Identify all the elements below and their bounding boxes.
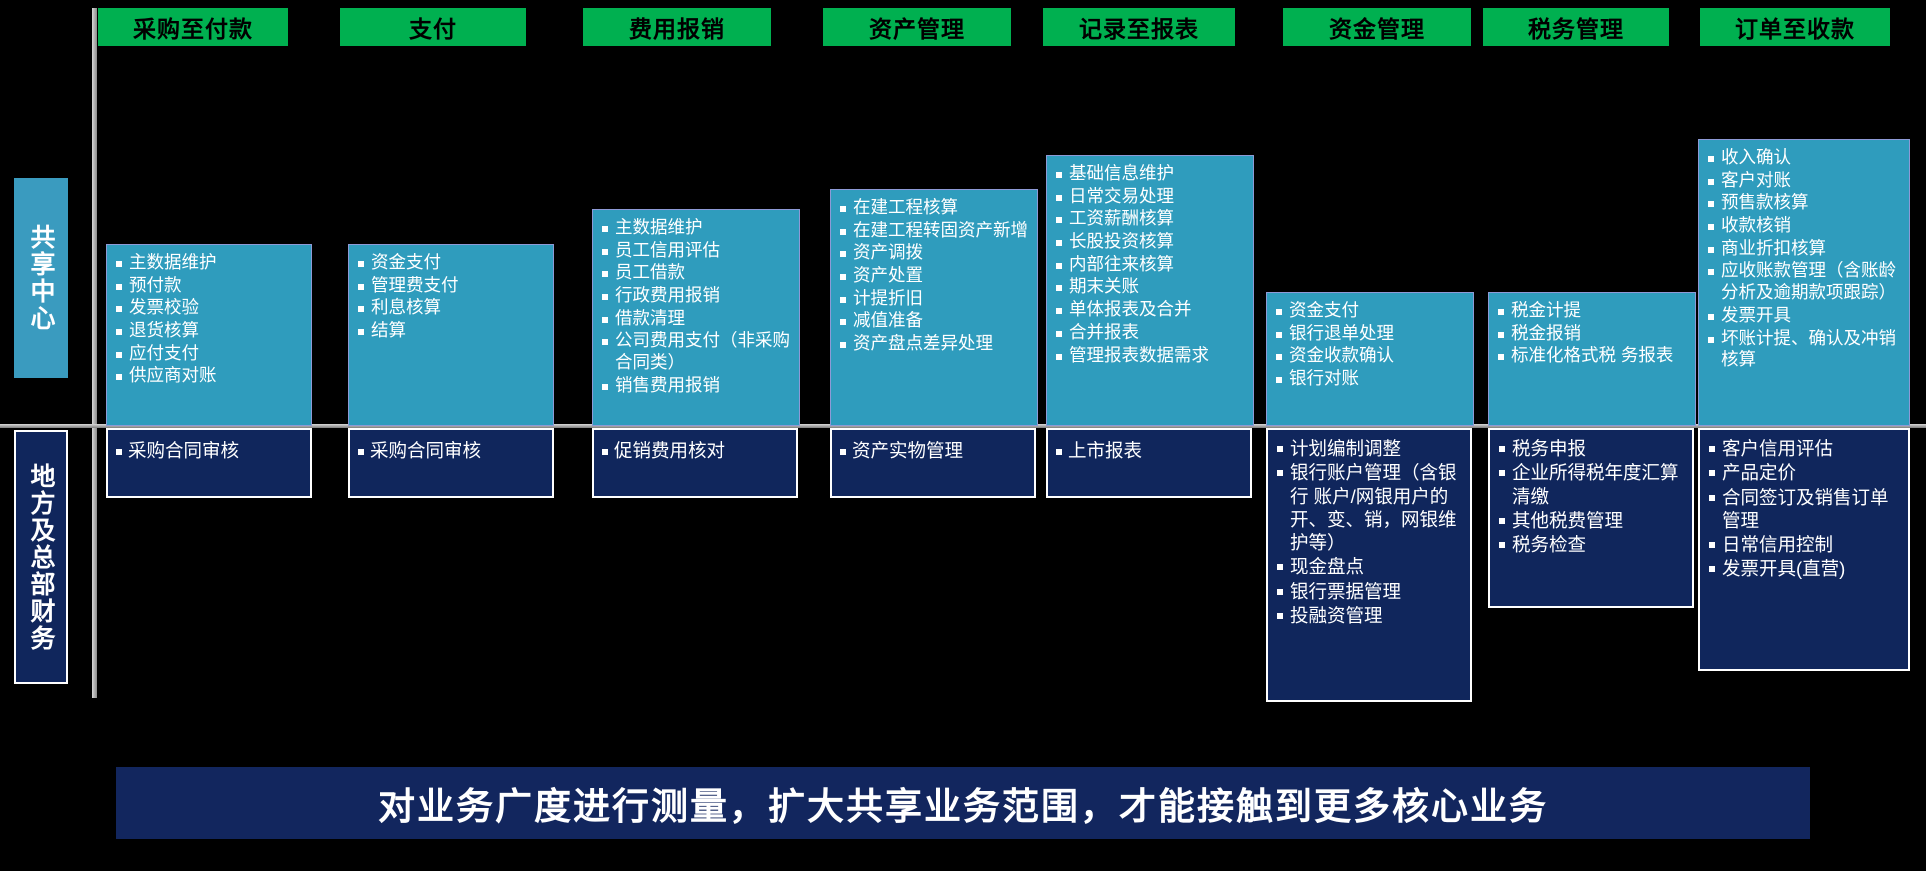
shared-box-order-to-cash[interactable]: 收入确认 客户对账 预售款核算 收款核销 商业折扣核算 应收账款管理（含账龄分析…	[1698, 139, 1910, 426]
list-item: 期末关账	[1055, 276, 1248, 298]
list-item: 银行票据管理	[1276, 580, 1465, 603]
local-list-tax-management: 税务申报 企业所得税年度汇算清缴 其他税费管理 税务检查	[1490, 430, 1692, 561]
list-item: 资产实物管理	[840, 439, 1029, 462]
local-list-payment: 采购合同审核	[350, 430, 552, 467]
shared-list-asset-management: 在建工程核算 在建工程转固资产新增 资产调拨 资产处置 计提折旧 减值准备 资产…	[831, 190, 1037, 360]
list-item: 投融资管理	[1276, 604, 1465, 627]
list-item: 结算	[357, 320, 548, 342]
list-item: 应付支付	[115, 343, 306, 365]
shared-box-tax-management[interactable]: 税金计提 税金报销 标准化格式税 务报表	[1488, 292, 1696, 426]
list-item: 标准化格式税 务报表	[1497, 345, 1690, 367]
local-box-asset-management[interactable]: 资产实物管理	[830, 428, 1036, 498]
list-item: 资产盘点差异处理	[839, 333, 1032, 355]
list-item: 客户对账	[1707, 170, 1904, 192]
list-item: 销售费用报销	[601, 375, 794, 397]
list-item: 供应商对账	[115, 365, 306, 387]
list-item: 企业所得税年度汇算清缴	[1498, 461, 1687, 508]
list-item: 计划编制调整	[1276, 437, 1465, 460]
shared-box-payment[interactable]: 资金支付 管理费支付 利息核算 结算	[348, 244, 554, 426]
list-item: 日常交易处理	[1055, 186, 1248, 208]
list-item: 员工借款	[601, 262, 794, 284]
list-item: 税务检查	[1498, 533, 1687, 556]
shared-list-treasury-management: 资金支付 银行退单处理 资金收款确认 银行对账	[1267, 293, 1473, 395]
list-item: 单体报表及合并	[1055, 299, 1248, 321]
list-item: 合并报表	[1055, 322, 1248, 344]
list-item: 管理报表数据需求	[1055, 345, 1248, 367]
list-item: 借款清理	[601, 308, 794, 330]
header-chip-record-to-report[interactable]: 记录至报表	[1043, 8, 1235, 46]
list-item: 收款核销	[1707, 215, 1904, 237]
local-list-procure-to-pay: 采购合同审核	[108, 430, 310, 467]
list-item: 长股投资核算	[1055, 231, 1248, 253]
local-list-record-to-report: 上市报表	[1048, 430, 1250, 467]
vertical-divider-line	[92, 8, 97, 698]
list-item: 客户信用评估	[1708, 437, 1903, 460]
slide-canvas: 采购至付款 支付 费用报销 资产管理 记录至报表 资金管理 税务管理 订单至收款…	[0, 0, 1926, 871]
list-item: 上市报表	[1056, 439, 1245, 462]
list-item: 银行账户管理（含银行 账户/网银用户的 开、变、销，网银维护等）	[1276, 461, 1465, 554]
lane-label-local-hq-finance: 地方及总部财务	[14, 430, 68, 684]
header-chip-procure-to-pay[interactable]: 采购至付款	[98, 8, 288, 46]
local-box-payment[interactable]: 采购合同审核	[348, 428, 554, 498]
local-box-procure-to-pay[interactable]: 采购合同审核	[106, 428, 312, 498]
conclusion-banner: 对业务广度进行测量，扩大共享业务范围，才能接触到更多核心业务	[116, 767, 1810, 839]
list-item: 预付款	[115, 275, 306, 297]
shared-box-record-to-report[interactable]: 基础信息维护 日常交易处理 工资薪酬核算 长股投资核算 内部往来核算 期末关账 …	[1046, 155, 1254, 426]
list-item: 采购合同审核	[358, 439, 547, 462]
header-chip-expense-reimbursement[interactable]: 费用报销	[583, 8, 771, 46]
list-item: 发票开具(直营)	[1708, 557, 1903, 580]
header-chip-tax-management[interactable]: 税务管理	[1483, 8, 1669, 46]
shared-list-procure-to-pay: 主数据维护 预付款 发票校验 退货核算 应付支付 供应商对账	[107, 245, 311, 392]
list-item: 员工信用评估	[601, 240, 794, 262]
list-item: 日常信用控制	[1708, 533, 1903, 556]
list-item: 退货核算	[115, 320, 306, 342]
list-item: 主数据维护	[601, 217, 794, 239]
list-item: 商业折扣核算	[1707, 238, 1904, 260]
local-list-expense-reimbursement: 促销费用核对	[594, 430, 796, 467]
local-list-order-to-cash: 客户信用评估 产品定价 合同签订及销售订单管理 日常信用控制 发票开具(直营)	[1700, 430, 1908, 586]
list-item: 合同签订及销售订单管理	[1708, 486, 1903, 533]
local-box-record-to-report[interactable]: 上市报表	[1046, 428, 1252, 498]
list-item: 资产调拨	[839, 242, 1032, 264]
list-item: 坏账计提、确认及冲销核算	[1707, 328, 1904, 371]
list-item: 发票开具	[1707, 305, 1904, 327]
local-box-order-to-cash[interactable]: 客户信用评估 产品定价 合同签订及销售订单管理 日常信用控制 发票开具(直营)	[1698, 428, 1910, 671]
shared-box-expense-reimbursement[interactable]: 主数据维护 员工信用评估 员工借款 行政费用报销 借款清理 公司费用支付（非采购…	[592, 209, 800, 426]
header-chip-order-to-cash[interactable]: 订单至收款	[1700, 8, 1890, 46]
header-chip-treasury-management[interactable]: 资金管理	[1283, 8, 1471, 46]
list-item: 减值准备	[839, 310, 1032, 332]
header-chip-asset-management[interactable]: 资产管理	[823, 8, 1011, 46]
list-item: 税金报销	[1497, 323, 1690, 345]
shared-box-asset-management[interactable]: 在建工程核算 在建工程转固资产新增 资产调拨 资产处置 计提折旧 减值准备 资产…	[830, 189, 1038, 426]
list-item: 资产处置	[839, 265, 1032, 287]
list-item: 收入确认	[1707, 147, 1904, 169]
list-item: 资金支付	[1275, 300, 1468, 322]
list-item: 管理费支付	[357, 275, 548, 297]
local-box-expense-reimbursement[interactable]: 促销费用核对	[592, 428, 798, 498]
shared-list-payment: 资金支付 管理费支付 利息核算 结算	[349, 245, 553, 347]
header-chip-payment[interactable]: 支付	[340, 8, 526, 46]
list-item: 发票校验	[115, 297, 306, 319]
list-item: 基础信息维护	[1055, 163, 1248, 185]
list-item: 主数据维护	[115, 252, 306, 274]
list-item: 采购合同审核	[116, 439, 305, 462]
local-list-asset-management: 资产实物管理	[832, 430, 1034, 467]
list-item: 在建工程转固资产新增	[839, 220, 1032, 242]
list-item: 公司费用支付（非采购合同类）	[601, 330, 794, 373]
list-item: 银行对账	[1275, 368, 1468, 390]
local-list-treasury-management: 计划编制调整 银行账户管理（含银行 账户/网银用户的 开、变、销，网银维护等） …	[1268, 430, 1470, 632]
list-item: 其他税费管理	[1498, 509, 1687, 532]
list-item: 计提折旧	[839, 288, 1032, 310]
list-item: 工资薪酬核算	[1055, 208, 1248, 230]
local-box-tax-management[interactable]: 税务申报 企业所得税年度汇算清缴 其他税费管理 税务检查	[1488, 428, 1694, 608]
list-item: 内部往来核算	[1055, 254, 1248, 276]
list-item: 在建工程核算	[839, 197, 1032, 219]
lane-label-shared-center: 共享中心	[14, 178, 68, 378]
local-box-treasury-management[interactable]: 计划编制调整 银行账户管理（含银行 账户/网银用户的 开、变、销，网银维护等） …	[1266, 428, 1472, 702]
shared-box-treasury-management[interactable]: 资金支付 银行退单处理 资金收款确认 银行对账	[1266, 292, 1474, 426]
list-item: 预售款核算	[1707, 192, 1904, 214]
list-item: 资金支付	[357, 252, 548, 274]
list-item: 税务申报	[1498, 437, 1687, 460]
list-item: 应收账款管理（含账龄分析及逾期款项跟踪）	[1707, 260, 1904, 303]
shared-list-order-to-cash: 收入确认 客户对账 预售款核算 收款核销 商业折扣核算 应收账款管理（含账龄分析…	[1699, 140, 1909, 376]
shared-list-expense-reimbursement: 主数据维护 员工信用评估 员工借款 行政费用报销 借款清理 公司费用支付（非采购…	[593, 210, 799, 402]
list-item: 行政费用报销	[601, 285, 794, 307]
list-item: 现金盘点	[1276, 555, 1465, 578]
list-item: 银行退单处理	[1275, 323, 1468, 345]
shared-box-procure-to-pay[interactable]: 主数据维护 预付款 发票校验 退货核算 应付支付 供应商对账	[106, 244, 312, 426]
list-item: 税金计提	[1497, 300, 1690, 322]
list-item: 利息核算	[357, 297, 548, 319]
list-item: 产品定价	[1708, 461, 1903, 484]
list-item: 资金收款确认	[1275, 345, 1468, 367]
shared-list-record-to-report: 基础信息维护 日常交易处理 工资薪酬核算 长股投资核算 内部往来核算 期末关账 …	[1047, 156, 1253, 371]
shared-list-tax-management: 税金计提 税金报销 标准化格式税 务报表	[1489, 293, 1695, 372]
list-item: 促销费用核对	[602, 439, 791, 462]
